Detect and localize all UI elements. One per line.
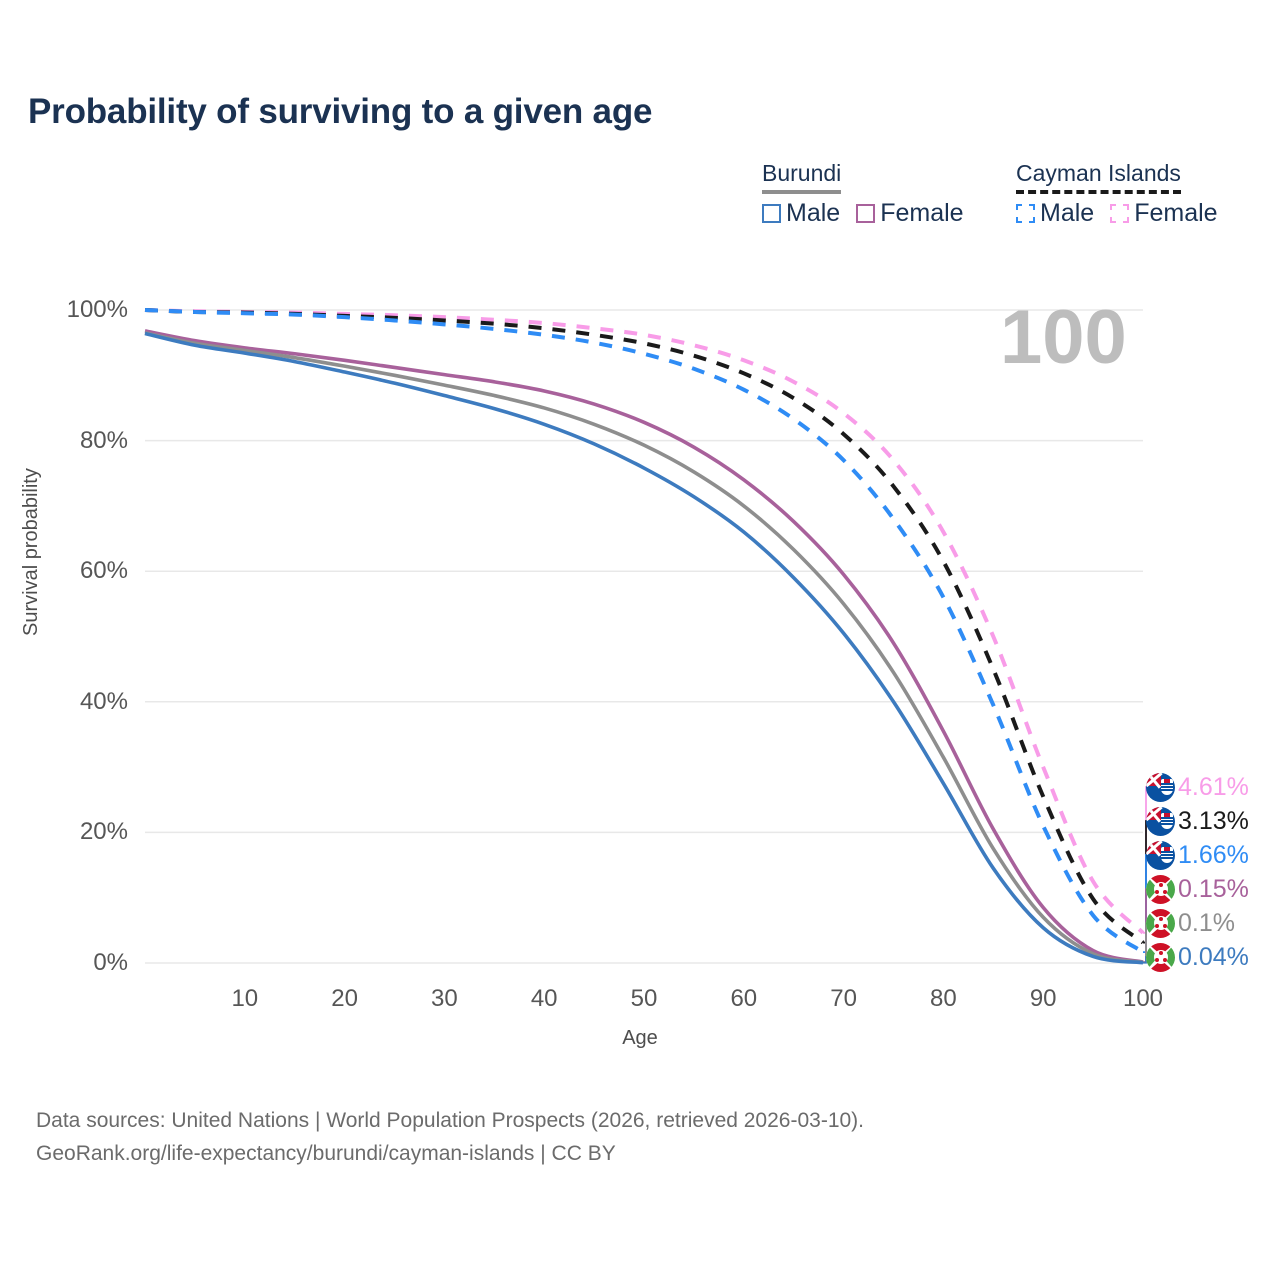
legend-label-burundi-female: Female [880,199,963,228]
y-axis-tick-label: 40% [18,688,128,716]
series-end-label[interactable]: 0.1% [1146,906,1235,940]
series-end-value: 1.66% [1178,841,1249,870]
x-axis-tick-label: 60 [704,985,784,1013]
legend-item-burundi-male[interactable]: Male [762,199,840,228]
series-line [145,310,1143,952]
chart-legend: Burundi Male Female Cayman Islands Male [756,160,1256,242]
y-axis-tick-label: 0% [18,949,128,977]
series-end-value: 0.15% [1178,875,1249,904]
y-axis-tick-label: 20% [18,818,128,846]
legend-item-cayman-male[interactable]: Male [1016,199,1094,228]
legend-label-cayman-male: Male [1040,199,1094,228]
x-axis-tick-label: 40 [504,985,584,1013]
burundi-flag [1146,875,1175,904]
legend-label-burundi-male: Male [786,199,840,228]
y-axis-tick-label: 100% [18,296,128,324]
chart-canvas [145,310,1143,963]
x-axis-title-text: Age [622,1027,658,1049]
footer: Data sources: United Nations | World Pop… [36,1104,864,1170]
legend-country-burundi[interactable]: Burundi [762,160,841,194]
plot-area: 100 [145,310,1143,963]
x-axis-tick-label: 50 [604,985,684,1013]
legend-country-cayman-islands[interactable]: Cayman Islands [1016,160,1181,194]
legend-group-cayman-islands: Cayman Islands Male Female [1016,160,1181,194]
cayman-islands-flag [1146,773,1175,802]
x-axis-tick-label: 30 [404,985,484,1013]
legend-swatch-icon-burundi-female [856,204,875,223]
series-end-value: 0.04% [1178,943,1249,972]
x-axis-tick-label: 70 [804,985,884,1013]
cayman-islands-flag [1146,807,1175,836]
x-axis-tick-label: 90 [1003,985,1083,1013]
x-axis-tick-label: 100 [1103,985,1183,1013]
footer-line-sources: Data sources: United Nations | World Pop… [36,1104,864,1137]
legend-item-burundi-female[interactable]: Female [856,199,963,228]
cayman-islands-flag [1146,841,1175,870]
age-watermark: 100 [1000,294,1127,381]
legend-group-burundi: Burundi Male Female [762,160,841,194]
legend-swatch-icon-burundi-male [762,204,781,223]
series-end-labels: 4.61%3.13%1.66%0.15%0.1%0.04% [1146,770,1280,975]
legend-item-cayman-female[interactable]: Female [1110,199,1217,228]
legend-swatch-icon-cayman-female [1110,204,1129,223]
series-end-value: 0.1% [1178,909,1235,938]
legend-label-cayman-female: Female [1134,199,1217,228]
legend-swatch-icon-cayman-male [1016,204,1035,223]
series-end-label[interactable]: 4.61% [1146,770,1249,804]
chart-page: Probability of surviving to a given age … [0,0,1280,1280]
y-axis-tick-label: 80% [18,427,128,455]
series-end-value: 4.61% [1178,773,1249,802]
footer-line-attribution: GeoRank.org/life-expectancy/burundi/caym… [36,1137,864,1170]
series-lines [145,310,1143,963]
y-axis-title: Survival probability [20,468,43,636]
series-end-label[interactable]: 3.13% [1146,804,1249,838]
series-end-label[interactable]: 1.66% [1146,838,1249,872]
x-axis-title: Age [0,1027,1280,1050]
x-axis-tick-label: 80 [903,985,983,1013]
x-axis-tick-label: 10 [205,985,285,1013]
series-end-label[interactable]: 0.15% [1146,872,1249,906]
series-line [145,310,1143,933]
series-end-label[interactable]: 0.04% [1146,940,1249,974]
burundi-flag [1146,909,1175,938]
page-title: Probability of surviving to a given age [28,92,652,132]
series-line [145,334,1143,963]
burundi-flag [1146,943,1175,972]
x-axis-tick-label: 20 [305,985,385,1013]
series-end-value: 3.13% [1178,807,1249,836]
